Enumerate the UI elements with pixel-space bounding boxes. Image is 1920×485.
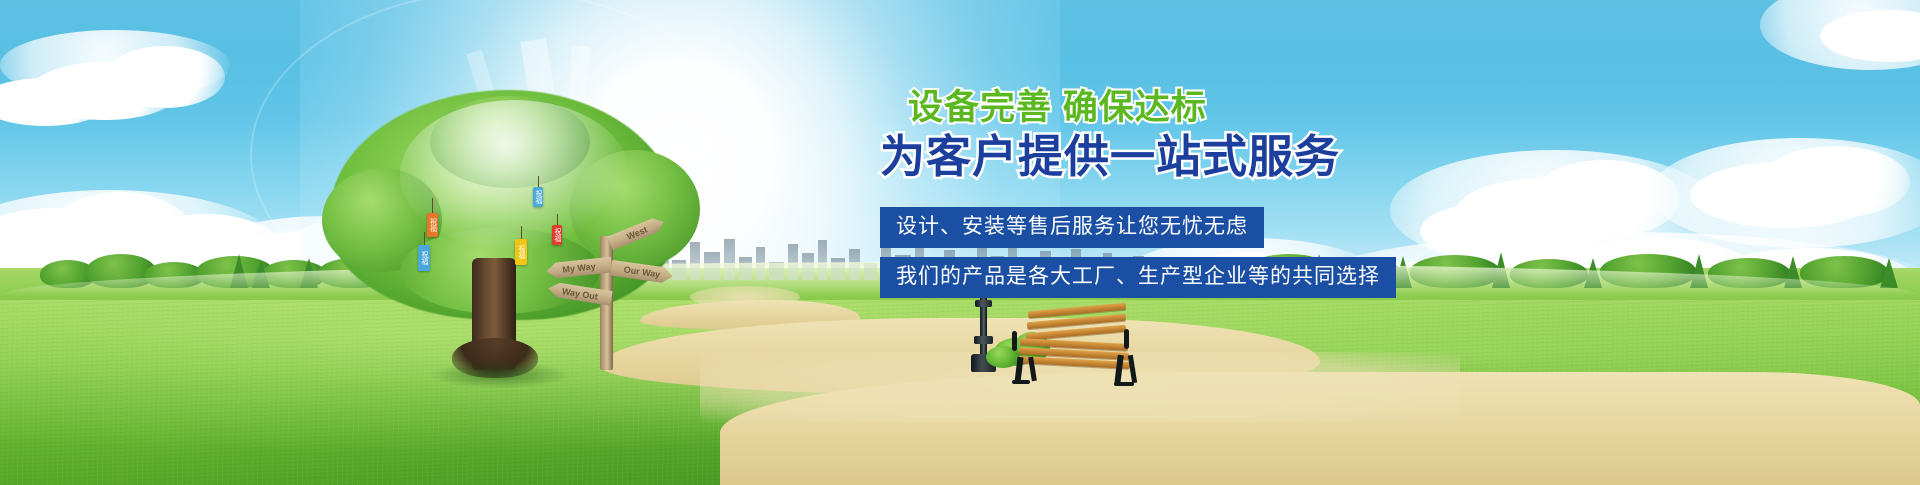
bench-leg-right-front [1114,355,1124,386]
hero-banner: 祝福 祝福 祝福 祝福 祝福 West My Way Our Way Way O… [0,0,1920,485]
sub-bar-row-2: 我们的产品是各大工厂、生产型企业等的共同选择 [880,257,1440,298]
sub-bar-2: 我们的产品是各大工厂、生产型企业等的共同选择 [880,257,1396,298]
lamp-collar-lower [974,336,993,344]
bench-arm-right [1124,329,1129,349]
tag-string-1 [432,198,433,214]
banner-copy: 设备完善 确保达标 为客户提供一站式服务 设计、安装等售后服务让您无忧无虑 我们… [880,86,1440,298]
wish-tag-blue: 祝福 [418,245,430,271]
bench-foot-left [1012,380,1030,384]
tag-string-3 [424,232,425,246]
tree-ground-shadow [430,362,570,388]
wish-tag-red: 祝福 [552,225,562,245]
sub-bar-row-1: 设计、安装等售后服务让您无忧无虑 [880,207,1440,248]
wish-tag-yellow: 祝福 [515,239,527,265]
sub-bar-1: 设计、安装等售后服务让您无忧无虑 [880,207,1264,248]
park-bench [1010,305,1140,385]
wish-tag-blue-upper: 祝福 [533,187,543,207]
bench-leg-right-back [1128,355,1137,383]
tree-canopy-lobe-right [570,150,700,268]
headline-line-2: 为客户提供一站式服务 [880,130,1440,184]
tree-canopy-lobe-top [430,96,590,188]
wish-tag-orange: 祝福 [427,213,438,237]
headline-line-1: 设备完善 确保达标 [908,86,1440,130]
lamp-collar-mid [975,300,992,307]
bench-arm-left [1012,331,1017,351]
bench-foot-right [1114,382,1134,386]
tag-string-2 [521,226,522,240]
